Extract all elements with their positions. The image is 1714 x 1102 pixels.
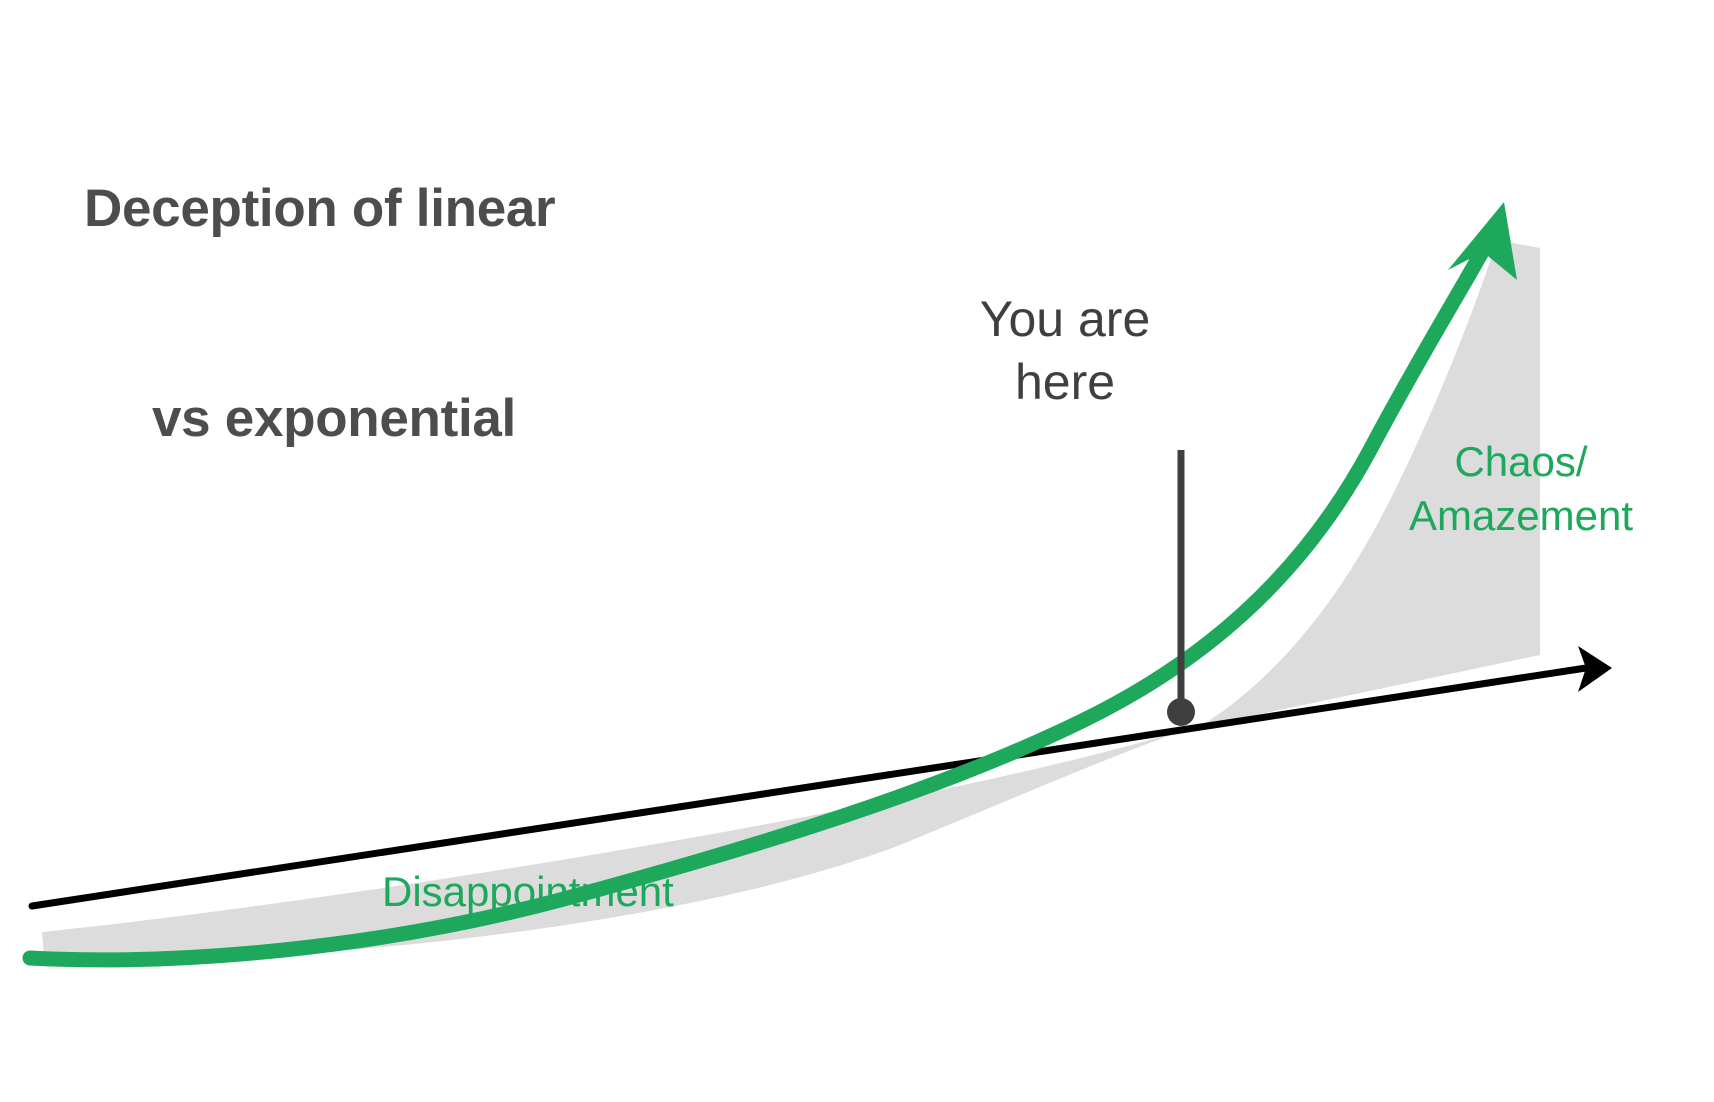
region-label-disappointment: Disappointment <box>382 868 674 916</box>
you-are-here-line-2: here <box>900 351 1230 414</box>
title-line-1: Deception of linear <box>84 174 784 244</box>
region-label-chaos-amazement: Chaos/ Amazement <box>1326 435 1714 543</box>
title-line-2: vs exponential <box>84 384 784 454</box>
chaos-label-line-1: Chaos/ <box>1326 435 1714 489</box>
region-disappointment <box>42 730 1186 959</box>
page-title: Deception of linear vs exponential <box>84 34 784 594</box>
you-are-here-dot <box>1167 698 1195 726</box>
slide-canvas: Deception of linear vs exponential You a… <box>0 0 1714 1102</box>
you-are-here-pointer <box>1167 450 1195 726</box>
you-are-here-label: You are here <box>900 288 1230 413</box>
chaos-label-line-2: Amazement <box>1326 489 1714 543</box>
exponential-arrowhead <box>1448 202 1517 280</box>
you-are-here-line-1: You are <box>900 288 1230 351</box>
